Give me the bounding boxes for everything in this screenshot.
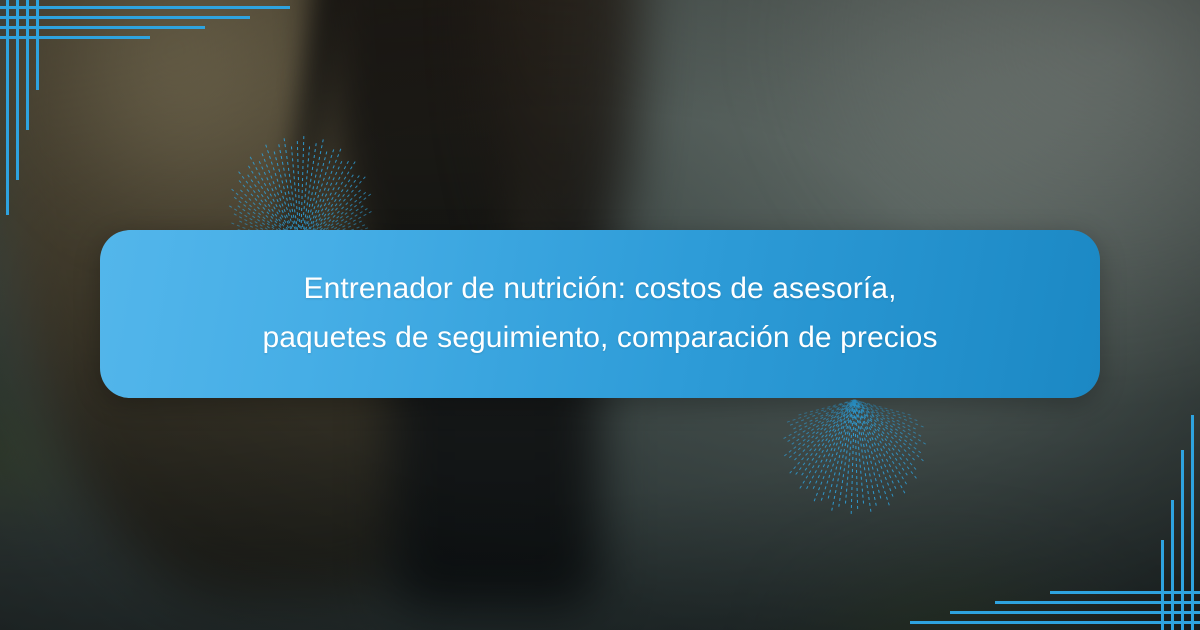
- page-title: Entrenador de nutrición: costos de aseso…: [140, 265, 1060, 362]
- corner-bracket-bottom-right-icon: [990, 480, 1200, 630]
- social-share-card: Entrenador de nutrición: costos de aseso…: [0, 0, 1200, 630]
- title-banner: Entrenador de nutrición: costos de aseso…: [100, 230, 1100, 398]
- radial-burst-lower-right-icon: [690, 400, 1020, 525]
